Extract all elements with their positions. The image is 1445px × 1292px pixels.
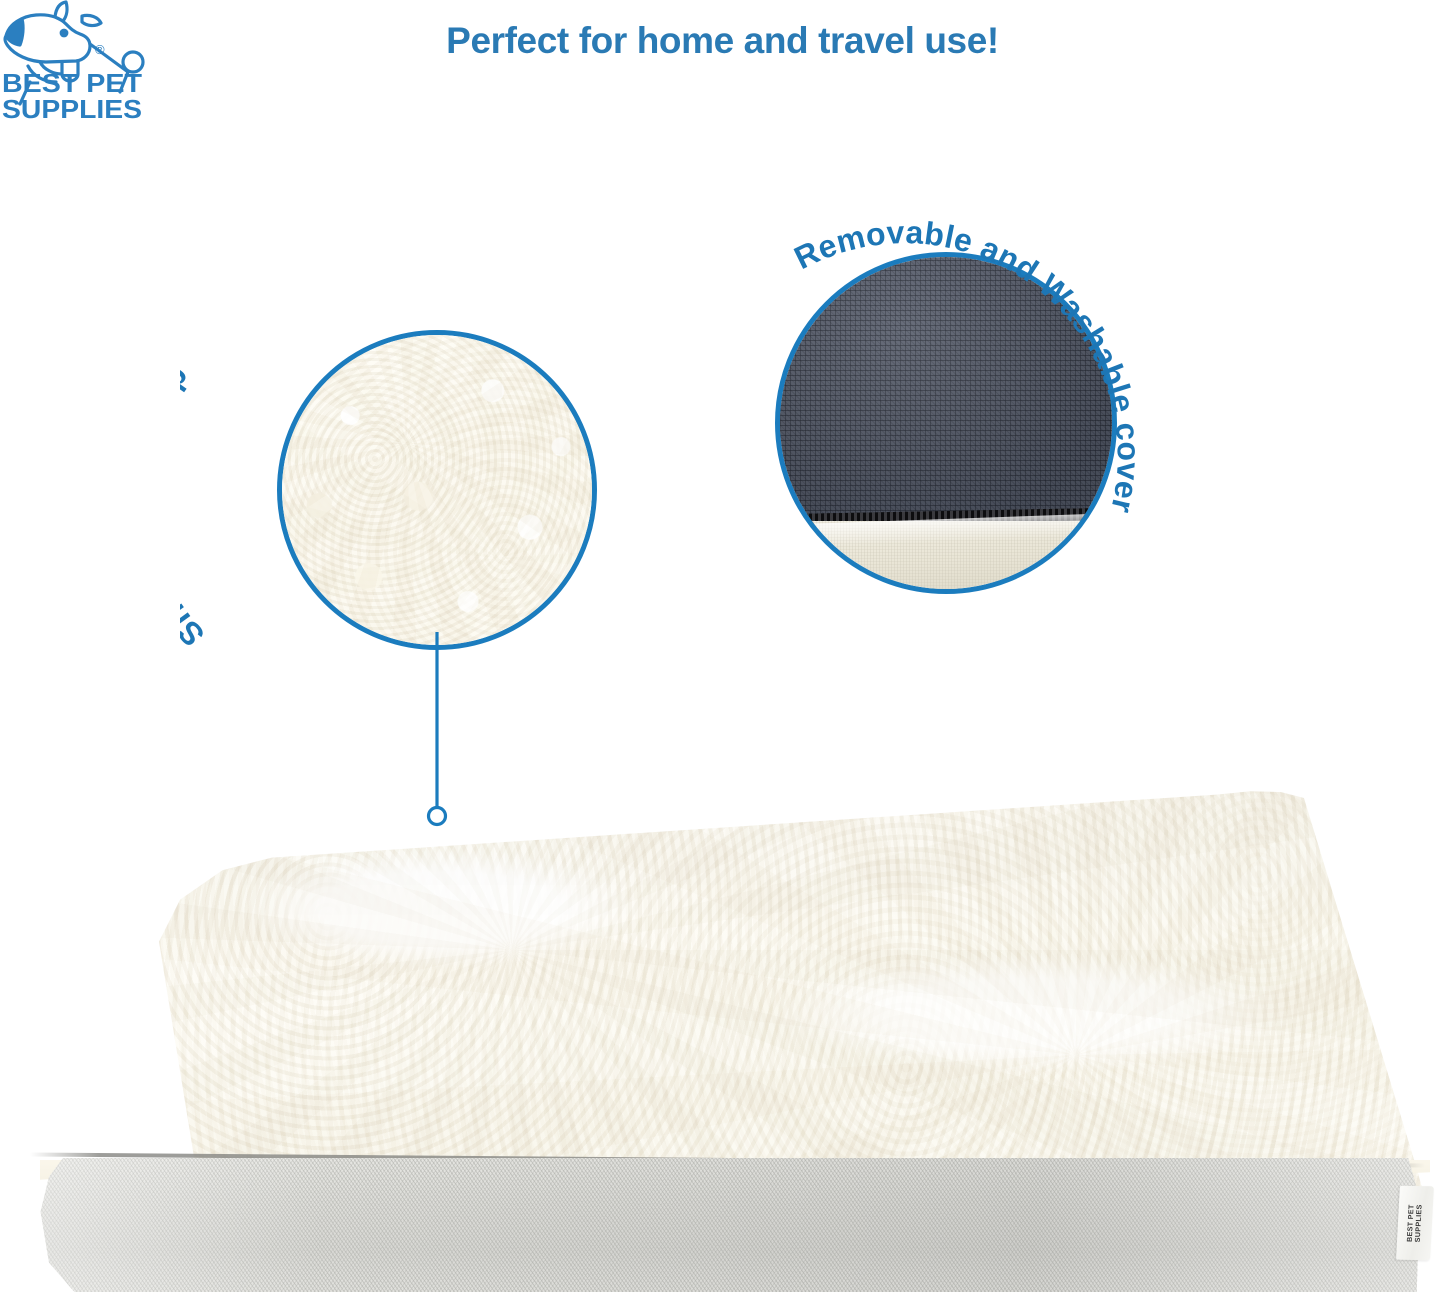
inner-liner-texture <box>780 521 1112 589</box>
callout-swatch-sherpa-fleece <box>277 330 597 650</box>
fabric-brand-tag: BEST PET SUPPLIES <box>1396 1186 1434 1260</box>
headline-text: Perfect for home and travel use! <box>0 20 1445 62</box>
callout-label-sherpa-fleece: Sherpa Fleece top <box>180 357 211 653</box>
sherpa-fleece-texture <box>282 335 592 645</box>
product-dog-bed <box>0 760 1445 1292</box>
fabric-brand-tag-text: BEST PET SUPPLIES <box>1406 1204 1425 1242</box>
logo-wordmark-line2: SUPPLIES <box>2 94 142 124</box>
bed-top-surface <box>18 782 1428 1202</box>
callout-swatch-removable-cover <box>775 252 1117 594</box>
svg-text:Sherpa Fleece top: Sherpa Fleece top <box>180 357 211 653</box>
infographic-canvas: ® BEST PET SUPPLIES Perfect for home and… <box>0 0 1445 1292</box>
mesh-cover-texture <box>780 257 1112 516</box>
bed-side-band <box>18 1158 1428 1292</box>
brand-logo: ® BEST PET SUPPLIES <box>0 0 160 125</box>
tag-line2: SUPPLIES <box>1413 1204 1424 1242</box>
